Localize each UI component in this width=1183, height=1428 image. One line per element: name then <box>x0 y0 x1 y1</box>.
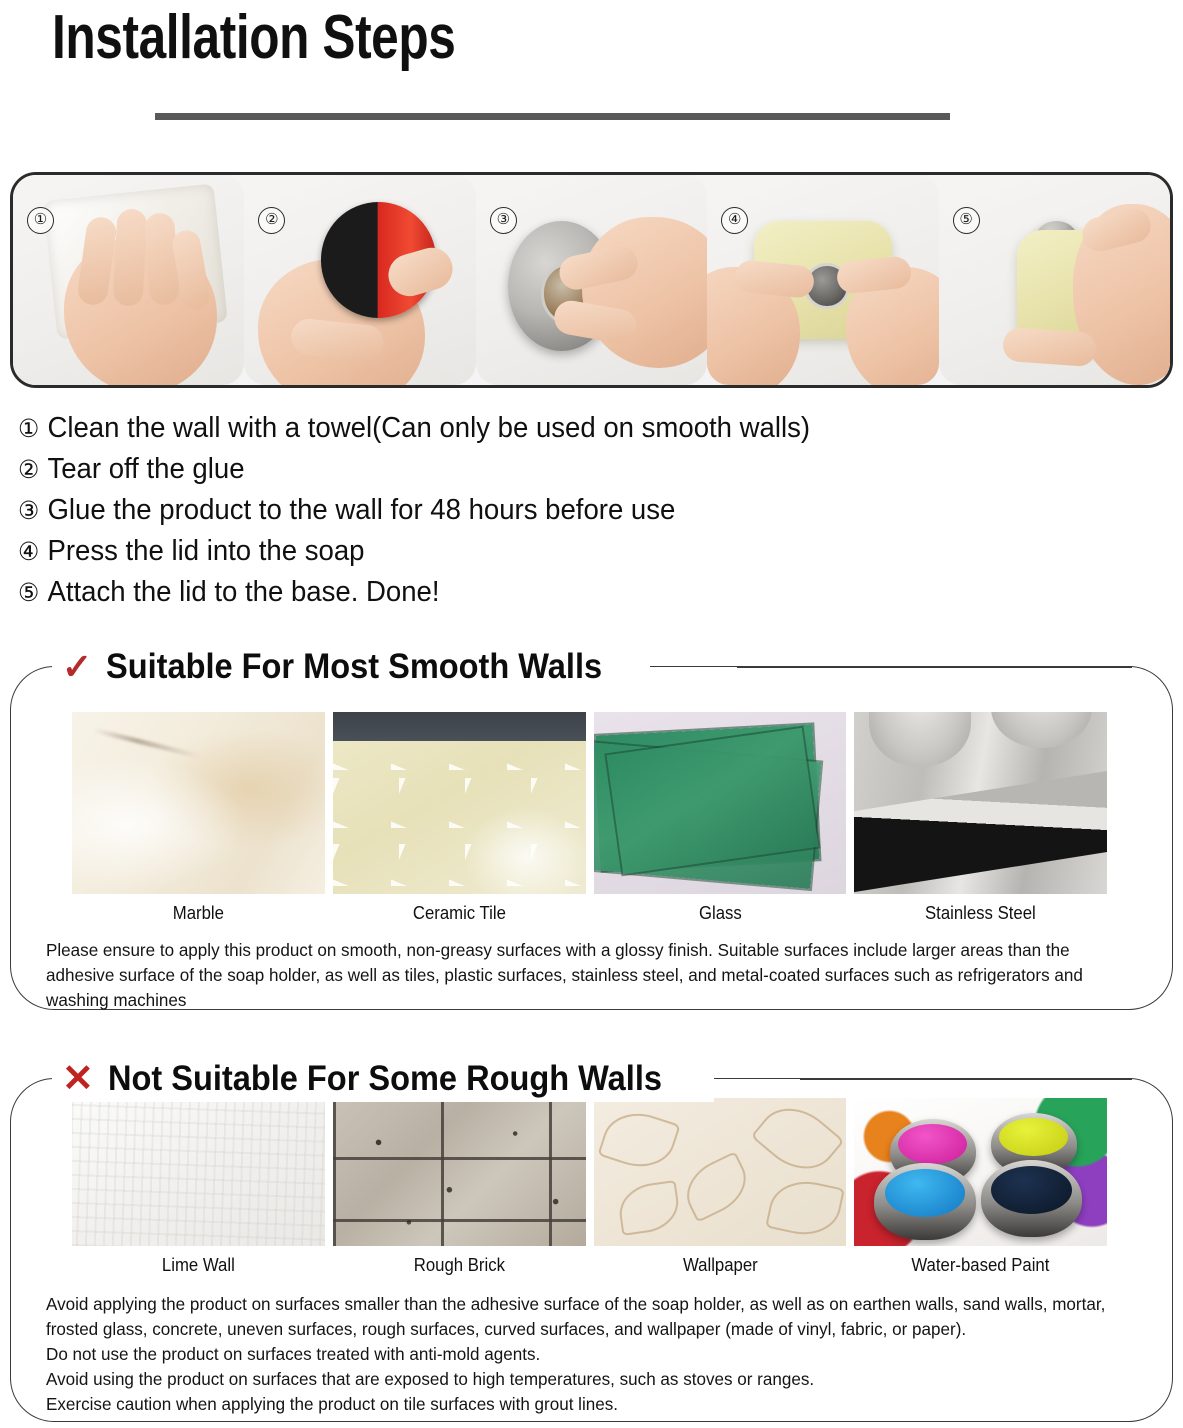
material-ceramic-tile: Ceramic Tile <box>333 712 586 928</box>
step-number-badge-1: ① <box>27 207 54 234</box>
instruction-number: ② <box>18 450 43 490</box>
not-suitable-note-line: Avoid applying the product on surfaces s… <box>46 1292 1128 1342</box>
step-photo-5: ⑤ <box>939 175 1170 385</box>
suitable-materials-row: Marble Ceramic Tile Glass Stainless Stee… <box>72 712 1107 928</box>
instruction-text: Glue the product to the wall for 48 hour… <box>47 490 675 530</box>
not-suitable-panel-title: Not Suitable For Some Rough Walls <box>108 1059 662 1099</box>
step-photo-4: ④ <box>707 175 938 385</box>
not-suitable-panel-header: ✕ Not Suitable For Some Rough Walls <box>52 1056 714 1102</box>
instruction-text: Press the lid into the soap <box>47 531 364 571</box>
not-suitable-notes: Avoid applying the product on surfaces s… <box>46 1292 1128 1417</box>
installation-steps-photo-strip: ① ② ③ ④ <box>10 172 1173 388</box>
suitable-note-text: Please ensure to apply this product on s… <box>46 938 1128 1013</box>
instruction-item: ③ Glue the product to the wall for 48 ho… <box>18 490 968 531</box>
page-title: Installation Steps <box>52 2 455 74</box>
instruction-number: ① <box>18 409 43 449</box>
stainless-steel-image <box>854 712 1107 894</box>
material-label: Lime Wall <box>81 1250 316 1280</box>
instruction-number: ④ <box>18 532 43 572</box>
material-label: Wallpaper <box>602 1250 837 1280</box>
not-suitable-header-rule <box>800 1078 1132 1080</box>
check-icon: ✓ <box>62 648 92 686</box>
wallpaper-image <box>594 1098 847 1246</box>
step-photo-3: ③ <box>476 175 707 385</box>
cross-icon: ✕ <box>62 1060 94 1098</box>
ceramic-tile-image <box>333 712 586 894</box>
material-label: Glass <box>602 898 837 928</box>
not-suitable-note-line: Avoid using the product on surfaces that… <box>46 1367 1128 1392</box>
material-water-based-paint: Water-based Paint <box>854 1098 1107 1280</box>
instruction-item: ④ Press the lid into the soap <box>18 531 968 572</box>
step-number-badge-3: ③ <box>490 207 517 234</box>
material-marble: Marble <box>72 712 325 928</box>
glass-image <box>594 712 847 894</box>
step-photo-2: ② <box>244 175 475 385</box>
material-label: Stainless Steel <box>863 898 1098 928</box>
instruction-text: Attach the lid to the base. Done! <box>47 572 439 612</box>
instruction-item: ① Clean the wall with a towel(Can only b… <box>18 408 968 449</box>
water-based-paint-image <box>854 1098 1107 1246</box>
suitable-panel-title: Suitable For Most Smooth Walls <box>106 647 602 687</box>
material-wallpaper: Wallpaper <box>594 1098 847 1280</box>
instruction-item: ⑤ Attach the lid to the base. Done! <box>18 572 968 613</box>
material-label: Marble <box>81 898 316 928</box>
material-label: Ceramic Tile <box>342 898 577 928</box>
instruction-text: Clean the wall with a towel(Can only be … <box>47 408 810 448</box>
step-number-badge-5: ⑤ <box>953 207 980 234</box>
not-suitable-materials-row: Lime Wall Rough Brick Wallpaper <box>72 1098 1107 1280</box>
instruction-number: ⑤ <box>18 573 43 613</box>
title-underline-rule <box>155 113 950 120</box>
instruction-text: Tear off the glue <box>47 449 244 489</box>
rough-brick-image <box>333 1098 586 1246</box>
material-lime-wall: Lime Wall <box>72 1098 325 1280</box>
installation-instruction-list: ① Clean the wall with a towel(Can only b… <box>18 408 1018 613</box>
step-photo-1: ① <box>13 175 244 385</box>
not-suitable-note-line: Exercise caution when applying the produ… <box>46 1392 1128 1417</box>
material-label: Rough Brick <box>342 1250 577 1280</box>
instruction-item: ② Tear off the glue <box>18 449 968 490</box>
lime-wall-image <box>72 1098 325 1246</box>
marble-image <box>72 712 325 894</box>
suitable-panel-header: ✓ Suitable For Most Smooth Walls <box>52 644 650 690</box>
not-suitable-note-line: Do not use the product on surfaces treat… <box>46 1342 1128 1367</box>
material-label: Water-based Paint <box>863 1250 1098 1280</box>
material-stainless-steel: Stainless Steel <box>854 712 1107 928</box>
material-glass: Glass <box>594 712 847 928</box>
instruction-number: ③ <box>18 491 43 531</box>
material-rough-brick: Rough Brick <box>333 1098 586 1280</box>
suitable-header-rule <box>737 666 1132 668</box>
